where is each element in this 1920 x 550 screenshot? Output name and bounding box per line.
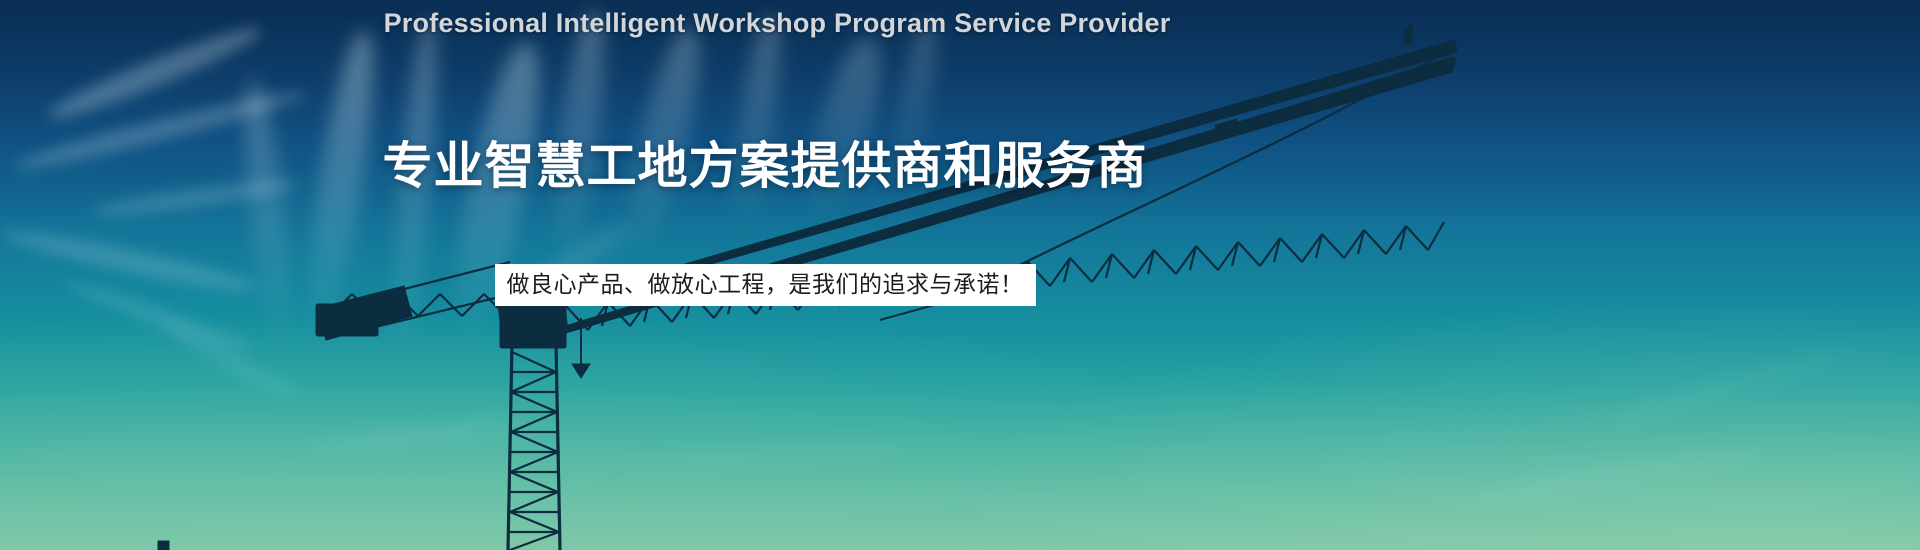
banner-eyebrow-text: Professional Intelligent Workshop Progra… — [0, 8, 1554, 39]
banner-content: Professional Intelligent Workshop Progra… — [0, 0, 1920, 550]
banner-headline: 专业智慧工地方案提供商和服务商 — [0, 126, 1530, 198]
hero-banner: Professional Intelligent Workshop Progra… — [0, 0, 1920, 550]
banner-tagline-container: 做良心产品、做放心工程，是我们的追求与承诺！ — [0, 264, 1530, 306]
banner-tagline: 做良心产品、做放心工程，是我们的追求与承诺！ — [495, 264, 1036, 306]
